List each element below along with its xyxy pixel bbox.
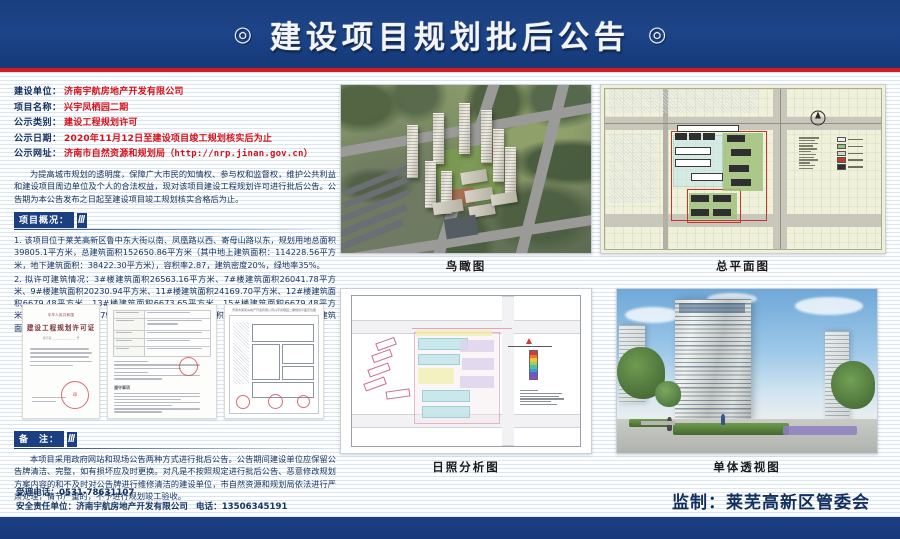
site-building: [703, 133, 715, 140]
tree-shape: [831, 361, 875, 409]
site-building: [713, 195, 731, 202]
info-value: 2020年11月12日至建设项目竣工规划核实后为止: [64, 134, 272, 144]
perspective-sky: [617, 289, 877, 453]
announcement-board: ◎ 建设项目规划批后公告 ◎ 建设单位： 济南宇航房地产开发有限公司 项目名称：…: [0, 0, 900, 539]
header-banner: ◎ 建设项目规划批后公告 ◎: [0, 0, 900, 72]
overview-section-title: 项目概况：: [14, 212, 74, 228]
sunlight-road: [502, 296, 514, 446]
site-existing-context: [609, 89, 759, 113]
sunlight-canvas: [351, 295, 581, 447]
sunlight-building-row: [422, 390, 470, 402]
contact-extra-label: 电话：: [188, 502, 222, 512]
contact-value: 0531-78631107: [59, 488, 134, 498]
overview-paragraph-1: 1. 该项目位于莱芜高新区鲁中东大街以南、凤凰路以西、寄母山路以东，规划用地总面…: [14, 234, 336, 271]
tree-shape: [655, 381, 681, 407]
compass-icon: [811, 111, 825, 125]
perspective-bench: [641, 421, 675, 425]
info-label: 公示网址：: [14, 149, 62, 159]
perspective-crown-glass: [679, 303, 745, 313]
site-building: [731, 179, 751, 186]
caption-site-plan: 总平面图: [600, 258, 886, 274]
ornament-left-icon: ◎: [234, 24, 252, 45]
attached-plan-drawing: [229, 315, 319, 414]
contact-row-safety-unit: 安全责任单位：济南宇航房地产开发有限公司电话：13506345191: [16, 500, 287, 514]
aerial-tower: [407, 125, 418, 178]
slash-decoration-icon: ///: [67, 432, 77, 447]
aerial-tower: [433, 113, 444, 164]
sunlight-neighbor-building: [367, 362, 390, 377]
info-label: 建设单位：: [14, 87, 62, 97]
aerial-tower: [505, 147, 516, 196]
perspective-main-tower: [675, 299, 751, 421]
site-building: [677, 125, 739, 132]
info-row-category: 公示类别： 建设工程规划许可: [14, 115, 336, 131]
certificate-nation-header: 中华人民共和国: [23, 312, 99, 317]
red-seal-icon: 印: [61, 381, 89, 409]
site-legend: [837, 137, 863, 171]
red-seal-icon: [268, 394, 283, 409]
ornament-right-icon: ◎: [648, 24, 666, 45]
overview-section-header: 项目概况： ///: [14, 205, 336, 228]
figure-sunlight-analysis[interactable]: [340, 288, 592, 454]
contact-block: 受理电话：0531-78631107 安全责任单位：济南宇航房地产开发有限公司电…: [16, 486, 287, 514]
aerial-tower: [493, 129, 504, 182]
sunlight-zone: [460, 376, 494, 388]
info-row-website: 公示网址： 济南市自然资源和规划局（http://nrp.jinan.gov.c…: [14, 146, 336, 162]
contact-value: 济南宇航房地产开发有限公司: [76, 502, 188, 512]
info-label: 公示日期：: [14, 134, 62, 144]
document-attached-plan[interactable]: 济南市莱芜房地产开发有限公司兴宇凤栖园二期规划平面定位图: [224, 304, 324, 419]
aerial-tower: [481, 110, 492, 163]
person-figure: [721, 414, 725, 425]
sunlight-scale-bar: [508, 346, 552, 347]
certificate-title: 建设工程规划许可证: [23, 322, 99, 332]
permit-documents-row: 中华人民共和国 建设工程规划许可证 建字第 ______________ 号 印: [22, 304, 340, 422]
info-value: 建设工程规划许可: [64, 118, 138, 128]
info-label: 项目名称：: [14, 103, 62, 113]
certificate-text-lines: [30, 348, 92, 366]
footer-banner: [0, 517, 900, 539]
site-building: [691, 173, 723, 181]
contact-row-hotline: 受理电话：0531-78631107: [16, 486, 287, 500]
perspective-flower-bed: [783, 426, 857, 435]
cloud-shape: [795, 297, 863, 315]
sunlight-neighbor-building: [386, 388, 411, 399]
site-info-table: [799, 137, 819, 171]
cloud-shape: [625, 307, 681, 323]
site-building: [713, 209, 731, 216]
site-building: [727, 135, 745, 142]
contact-label: 受理电话：: [16, 488, 59, 498]
info-label: 公示类别：: [14, 118, 62, 128]
sunlight-zone: [462, 358, 494, 370]
sunlight-neighbor-building: [363, 376, 386, 391]
site-existing-context: [609, 133, 657, 203]
caption-aerial-view: 鸟瞰图: [340, 258, 592, 274]
figure-unit-perspective[interactable]: [616, 288, 878, 454]
permit-notes-lines: [114, 393, 210, 413]
north-arrow-icon: [526, 338, 532, 344]
red-seal-icon: [179, 357, 198, 376]
document-permit-table[interactable]: 遵守事项: [107, 304, 217, 419]
sunlight-color-legend: [529, 350, 538, 380]
info-value-url[interactable]: 济南市自然资源和规划局（http://nrp.jinan.gov.cn）: [64, 149, 313, 159]
permit-table: [113, 310, 211, 357]
sunlight-zone: [416, 330, 492, 336]
site-building: [689, 133, 701, 140]
red-seal-icon: [236, 395, 250, 409]
sunlight-building-row: [418, 354, 460, 365]
site-road-vertical: [663, 89, 668, 249]
site-building: [691, 209, 709, 216]
info-row-date: 公示日期： 2020年11月12日至建设项目竣工规划核实后为止: [14, 131, 336, 147]
contact-extra-value: 13506345191: [222, 502, 288, 512]
document-permit-certificate[interactable]: 中华人民共和国 建设工程规划许可证 建字第 ______________ 号 印: [22, 304, 100, 419]
contact-label: 安全责任单位：: [16, 502, 76, 512]
attached-plan-header: 济南市莱芜房地产开发有限公司兴宇凤栖园二期规划平面定位图: [227, 308, 321, 312]
site-road-centerline: [780, 89, 781, 249]
page-title: 建设项目规划批后公告: [270, 12, 630, 57]
certificate-number: 建字第 ______________ 号: [23, 336, 99, 340]
info-row-project-name: 项目名称： 兴宇凤栖园二期: [14, 100, 336, 116]
info-value: 兴宇凤栖园二期: [64, 103, 128, 113]
site-plan-canvas: [604, 88, 882, 250]
remarks-section-title: 备 注：: [14, 431, 64, 447]
remarks-section-header: 备 注： ///: [14, 424, 336, 447]
figure-site-plan[interactable]: [600, 84, 886, 254]
sunlight-boundary-line: [412, 328, 512, 329]
figure-aerial-view[interactable]: [340, 84, 592, 254]
info-value: 济南宇航房地产开发有限公司: [64, 87, 184, 97]
permit-notes-header: 遵守事项: [114, 385, 216, 391]
site-road-centerline: [605, 123, 881, 124]
site-building: [675, 147, 711, 155]
info-row-developer: 建设单位： 济南宇航房地产开发有限公司: [14, 84, 336, 100]
sunlight-zone: [418, 368, 454, 384]
red-seal-icon: [297, 395, 310, 408]
caption-unit-perspective: 单体透视图: [616, 459, 878, 475]
sunlight-zone: [460, 340, 494, 352]
site-building: [675, 133, 687, 140]
sunlight-building-row: [422, 406, 470, 418]
supervision-text: 监制：莱芜高新区管委会: [672, 488, 870, 513]
sunlight-notes: [520, 390, 564, 407]
site-building: [691, 195, 709, 202]
site-building: [729, 165, 749, 172]
aerial-tower: [425, 161, 436, 208]
site-building: [675, 159, 711, 167]
intro-paragraph: 为提高城市规划的透明度，保障广大市民的知情权、参与权和监督权，维护公共利益和建设…: [14, 168, 336, 205]
caption-sunlight-analysis: 日照分析图: [340, 459, 592, 475]
sunlight-neighbor-building: [371, 349, 393, 363]
site-building: [731, 149, 751, 156]
perspective-hedge: [673, 423, 789, 435]
aerial-tower: [459, 103, 470, 154]
slash-decoration-icon: ///: [77, 213, 87, 228]
